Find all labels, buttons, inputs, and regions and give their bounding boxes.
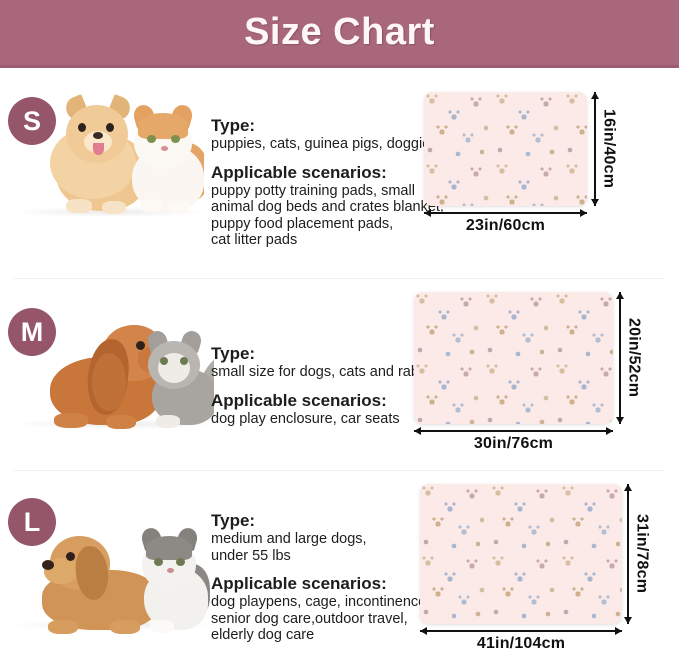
row-divider: [14, 278, 665, 279]
dog-paw: [54, 413, 88, 428]
cat-head-marking: [138, 113, 188, 139]
cat-eye: [176, 558, 185, 566]
width-dimension-m: 30in/76cm: [414, 430, 613, 453]
spec-text-s: Type: puppies, cats, guinea pigs, doggie…: [211, 115, 444, 249]
type-value: medium and large dogs, under 55 lbs: [211, 531, 430, 564]
dog-paw: [48, 620, 78, 634]
page-title: Size Chart: [244, 11, 435, 54]
size-badge-l: L: [8, 498, 56, 546]
width-label: 30in/76cm: [414, 435, 613, 453]
scenarios-value: puppy potty training pads, small animal …: [211, 183, 444, 249]
dog-paw: [66, 199, 92, 213]
scenarios-value: dog playpens, cage, incontinence, senior…: [211, 594, 430, 644]
size-row-s: S Type:: [0, 75, 679, 265]
dog-nose: [42, 560, 54, 570]
pet-pad-m: [414, 292, 613, 424]
width-label: 41in/104cm: [420, 635, 622, 653]
dimension-line-vertical: [594, 92, 596, 206]
pad-surface: [420, 484, 622, 624]
cat-nose: [161, 146, 168, 151]
type-label: Type:: [211, 510, 430, 531]
spec-text-m: Type: small size for dogs, cats and rabb…: [211, 343, 442, 427]
cat-nose: [167, 568, 174, 573]
dog-tongue: [93, 143, 104, 155]
header-banner: Size Chart: [0, 0, 679, 68]
size-badge-s: S: [8, 97, 56, 145]
type-label: Type:: [211, 115, 444, 136]
pet-pad-s: [424, 92, 587, 206]
cat-eye: [154, 558, 163, 566]
height-label: 20in/52cm: [625, 318, 643, 397]
type-value: small size for dogs, cats and rabbits: [211, 364, 442, 381]
width-label: 23in/60cm: [424, 217, 587, 235]
cat-head-marking: [146, 536, 192, 560]
scenarios-label: Applicable scenarios:: [211, 390, 442, 411]
scenarios-label: Applicable scenarios:: [211, 573, 430, 594]
height-dimension-l: 31in/78cm: [627, 484, 651, 624]
pet-pad-l: [420, 484, 622, 624]
type-value: puppies, cats, guinea pigs, doggies: [211, 136, 444, 153]
height-dimension-m: 20in/52cm: [619, 292, 643, 424]
cat-paw: [150, 620, 174, 633]
spec-text-l: Type: medium and large dogs, under 55 lb…: [211, 510, 430, 644]
size-row-l: L Type: medium and large dogs, under: [0, 478, 679, 662]
cat-paw: [140, 199, 162, 212]
cat-eye: [180, 357, 188, 365]
dog-ear-inner: [92, 353, 126, 411]
height-dimension-s: 16in/40cm: [594, 92, 618, 206]
dimension-line-horizontal: [420, 630, 622, 632]
dog-paw: [106, 415, 136, 429]
dimension-line-vertical: [619, 292, 621, 424]
type-label: Type:: [211, 343, 442, 364]
cat-paw: [156, 415, 180, 428]
dimension-line-horizontal: [424, 212, 587, 214]
dog-eye: [106, 123, 114, 132]
dimension-line-vertical: [627, 484, 629, 624]
width-dimension-s: 23in/60cm: [424, 212, 587, 235]
size-row-m: M Type: small size for dogs, cats and: [0, 283, 679, 473]
height-label: 31in/78cm: [633, 514, 651, 593]
cat-eye: [160, 357, 168, 365]
dog-eye: [78, 123, 86, 132]
dog-nose: [93, 132, 103, 139]
scenarios-value: dog play enclosure, car seats: [211, 411, 442, 428]
scenarios-label: Applicable scenarios:: [211, 162, 444, 183]
pad-surface: [414, 292, 613, 424]
dimension-line-horizontal: [414, 430, 613, 432]
pad-surface: [424, 92, 587, 206]
dog-paw: [110, 620, 140, 634]
dog-paw: [102, 201, 126, 214]
cat-eye: [147, 135, 156, 143]
size-chart-page: Size Chart S: [0, 0, 679, 662]
dog-eye: [136, 341, 145, 350]
cat-paw: [168, 201, 190, 213]
width-dimension-l: 41in/104cm: [420, 630, 622, 653]
dog-eye: [66, 552, 75, 561]
size-badge-m: M: [8, 308, 56, 356]
height-label: 16in/40cm: [600, 109, 618, 188]
cat-eye: [171, 135, 180, 143]
